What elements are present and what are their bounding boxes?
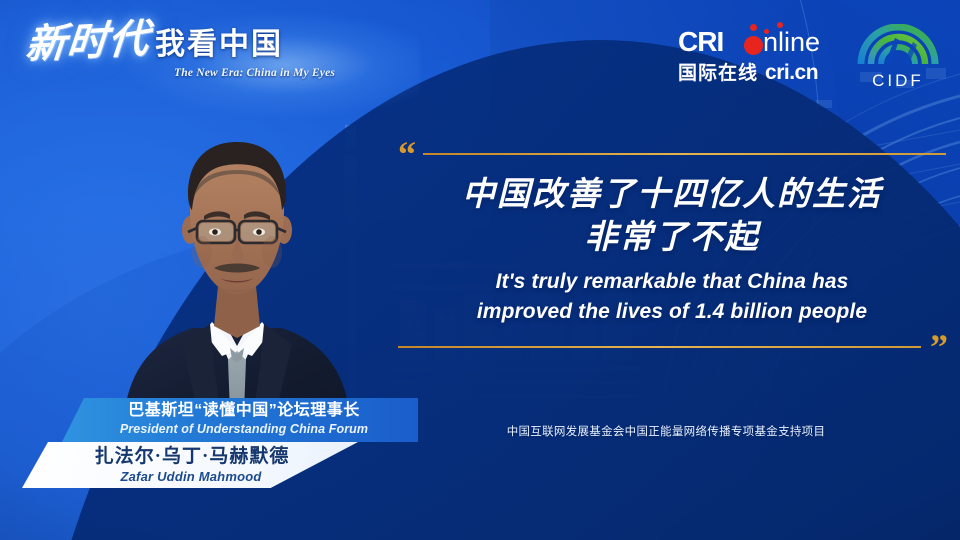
brand-chinese-row: 新时代 我看中国	[26, 22, 346, 62]
quote-close-mark-icon: ”	[930, 341, 946, 353]
quote-english-line-1: It's truly remarkable that China has	[398, 267, 946, 297]
speaker-title-chinese: 巴基斯坦“读懂中国”论坛理事长	[80, 401, 408, 421]
quote-bottom-rule	[398, 346, 921, 348]
cri-online-logo[interactable]: CRI nline 国际在线 cri.cn	[678, 27, 838, 89]
speaker-portrait	[118, 118, 356, 438]
speaker-name-english: Zafar Uddin Mahmood	[22, 469, 358, 485]
cidf-logo[interactable]: CIDF	[855, 24, 941, 90]
cri-url: cri.cn	[765, 62, 818, 84]
speaker-title-english: President of Understanding China Forum	[80, 421, 408, 437]
quote-chinese-line-2: 非常了不起	[398, 215, 946, 258]
program-brand-logo: 新时代 我看中国 The New Era: China in My Eyes	[26, 22, 346, 94]
brand-subtitle-chinese: 我看中国	[155, 30, 283, 60]
quote-open-mark-icon: “	[398, 148, 414, 160]
brand-title-english: The New Era: China in My Eyes	[174, 67, 346, 79]
brand-title-calligraphy: 新时代	[24, 19, 151, 65]
cri-letters: CRI	[678, 27, 723, 57]
quote-bottom-rule-row: ”	[398, 341, 946, 353]
cidf-arc-mark-icon	[855, 24, 941, 64]
quote-chinese-line-1: 中国改善了十四亿人的生活	[398, 172, 946, 215]
speaker-id-card: 巴基斯坦“读懂中国”论坛理事长 President of Understandi…	[18, 398, 418, 488]
quote-top-rule-row: “	[398, 148, 946, 160]
cri-chinese-name: 国际在线	[678, 63, 758, 85]
cri-red-circle-icon	[744, 36, 763, 55]
speaker-name-banner: 扎法尔·乌丁·马赫默德 Zafar Uddin Mahmood	[22, 442, 358, 488]
cri-online-word: nline	[763, 27, 820, 57]
quote-block: “ 中国改善了十四亿人的生活 非常了不起 It's truly remarkab…	[398, 148, 946, 353]
cri-bubble-dot-icon-1	[750, 24, 757, 31]
cri-secondary-row: 国际在线 cri.cn	[678, 62, 838, 85]
speaker-title-banner: 巴基斯坦“读懂中国”论坛理事长 President of Understandi…	[62, 398, 418, 442]
sponsor-footer-text: 中国互联网发展基金会中国正能量网络传播专项基金支持项目	[476, 424, 856, 440]
cri-wordmark-row: CRI nline	[678, 27, 838, 59]
quote-top-rule	[423, 153, 946, 155]
quote-english-line-2: improved the lives of 1.4 billion people	[398, 297, 946, 327]
cidf-label: CIDF	[855, 71, 941, 91]
speaker-name-chinese: 扎法尔·乌丁·马赫默德	[22, 445, 358, 469]
poster-canvas: 新时代 我看中国 The New Era: China in My Eyes C…	[0, 0, 960, 540]
